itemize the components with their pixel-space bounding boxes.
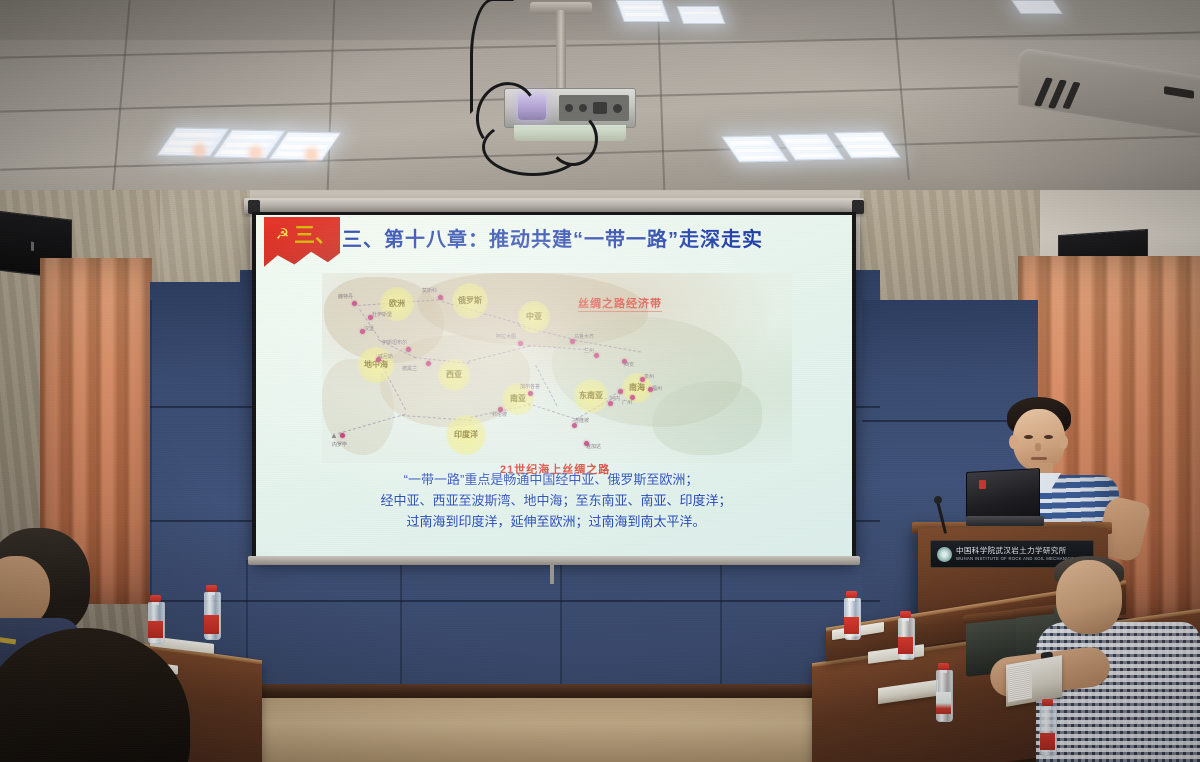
map-region-label: 南亚 <box>510 395 526 404</box>
map-node-label: 加尔各答 <box>520 383 540 390</box>
map-node <box>426 361 431 366</box>
map-region-label: 中亚 <box>526 313 542 322</box>
map-node-label: 泉州 <box>644 373 654 380</box>
map-region-label: 南海 <box>629 384 645 393</box>
ceiling-light-dot <box>308 151 315 158</box>
silk-road-economic-belt-label: 丝绸之路经济带 <box>578 295 662 312</box>
slide-body-line: “一带一路”重点是畅通中国经中亚、俄罗斯至欧洲； <box>286 469 826 490</box>
map-node <box>594 353 599 358</box>
map-node <box>618 389 623 394</box>
map-node <box>406 347 411 352</box>
screen-pull-handle[interactable] <box>550 564 554 584</box>
map-region: 中亚 <box>518 301 550 333</box>
map-region-label: 印度洋 <box>454 431 478 440</box>
seated-man-head <box>1056 560 1122 634</box>
map-node-label: 阿拉木图 <box>496 333 516 340</box>
microphone-indicator <box>979 480 986 489</box>
map-node-label: 杜伊斯堡 <box>372 311 392 318</box>
laptop-keyboard[interactable] <box>966 516 1044 526</box>
water-bottle <box>898 612 913 660</box>
map-node-label: 伊斯坦布尔 <box>382 339 407 346</box>
hammer-sickle-icon: ☭ <box>274 226 291 243</box>
microphone-head <box>934 496 942 504</box>
map-node-label: 鹿特丹 <box>338 293 353 300</box>
map-node-label: 河内 <box>610 395 620 402</box>
ceiling-light-panel <box>677 6 726 24</box>
section-number: 三、 <box>294 219 336 249</box>
water-bottle <box>204 586 219 640</box>
map-region: 西亚 <box>438 359 470 391</box>
map-node-label: 广州 <box>622 399 632 406</box>
laptop-screen[interactable] <box>966 468 1040 522</box>
map-node <box>438 295 443 300</box>
map-node-label: 兰州 <box>584 347 594 354</box>
map-region: 印度洋 <box>446 415 486 455</box>
slide-body-text: “一带一路”重点是畅通中国经中亚、俄罗斯至欧洲； 经中亚、西亚至波斯湾、地中海；… <box>286 469 826 532</box>
slide-body-line: 过南海到印度洋，延伸至欧洲；过南海到南太平洋。 <box>286 511 826 532</box>
water-bottle <box>936 664 951 722</box>
map-node <box>518 341 523 346</box>
map-node-label: 汉堡 <box>364 325 374 332</box>
ceiling-light-dot <box>252 149 259 156</box>
map-node-label: 莫斯科 <box>422 287 437 294</box>
map-node-label: 科伦坡 <box>492 411 507 418</box>
belt-and-road-map: 欧洲 俄罗斯 中亚 地中海 西亚 南亚 东南亚 南海 印度洋 鹿特丹 杜伊斯堡 … <box>322 273 792 463</box>
presenter-head <box>1013 409 1065 471</box>
map-region: 东南亚 <box>574 379 608 413</box>
map-node-label: 威尼斯 <box>378 353 393 360</box>
map-region-label: 西亚 <box>446 371 462 380</box>
map-node <box>352 301 357 306</box>
slide-body-line: 经中亚、西亚至波斯湾、地中海；至东南亚、南亚、印度洋； <box>286 490 826 511</box>
map-region-label: 东南亚 <box>579 392 603 401</box>
projector-cable <box>470 0 516 114</box>
panel-seam <box>400 560 402 688</box>
map-node-label: 福州 <box>652 385 662 392</box>
projector-cable <box>548 112 598 166</box>
map-node <box>528 391 533 396</box>
slide-title: 三、第十八章：推动共建“一带一路”走深走实 <box>342 223 842 252</box>
map-node-label: 西安 <box>624 361 634 368</box>
route-line <box>528 403 580 421</box>
map-node-label: 德黑兰 <box>402 365 417 372</box>
screen-bottom-bar <box>248 556 860 565</box>
presenter-ear <box>1059 435 1068 449</box>
map-region-label: 欧洲 <box>389 300 405 309</box>
map-node <box>340 433 345 438</box>
water-bottle <box>148 596 163 644</box>
ceiling-light-dot <box>196 147 203 154</box>
podium-sign-chinese: 中国科学院武汉岩土力学研究所 <box>956 547 1087 555</box>
water-bottle <box>1040 700 1055 756</box>
map-region-label: 俄罗斯 <box>458 297 482 306</box>
presenter-ear <box>1009 435 1018 449</box>
projection-screen: ☭ 三、 三、第十八章：推动共建“一带一路”走深走实 <box>256 215 852 557</box>
panel-seam <box>150 600 880 602</box>
map-region: 俄罗斯 <box>452 283 488 319</box>
water-bottle <box>844 592 859 640</box>
projector-mount-pole <box>556 10 566 90</box>
ceiling-light-panel <box>616 0 670 22</box>
lecture-hall-photo: ☭ 三、 三、第十八章：推动共建“一带一路”走深走实 <box>0 0 1200 762</box>
map-node-label: 内罗毕 <box>332 441 347 448</box>
map-node-label: 乌鲁木齐 <box>574 333 594 340</box>
map-node-label: 雅加达 <box>586 443 601 450</box>
institute-seal-icon <box>937 547 952 562</box>
cpc-flag-graphic: ☭ 三、 <box>264 217 340 275</box>
map-region-label: 地中海 <box>364 361 388 370</box>
panel-seam <box>560 560 562 688</box>
map-node-label: 吉隆坡 <box>574 417 589 424</box>
ceiling-light-panel <box>1011 0 1062 14</box>
panel-seam <box>720 560 722 688</box>
